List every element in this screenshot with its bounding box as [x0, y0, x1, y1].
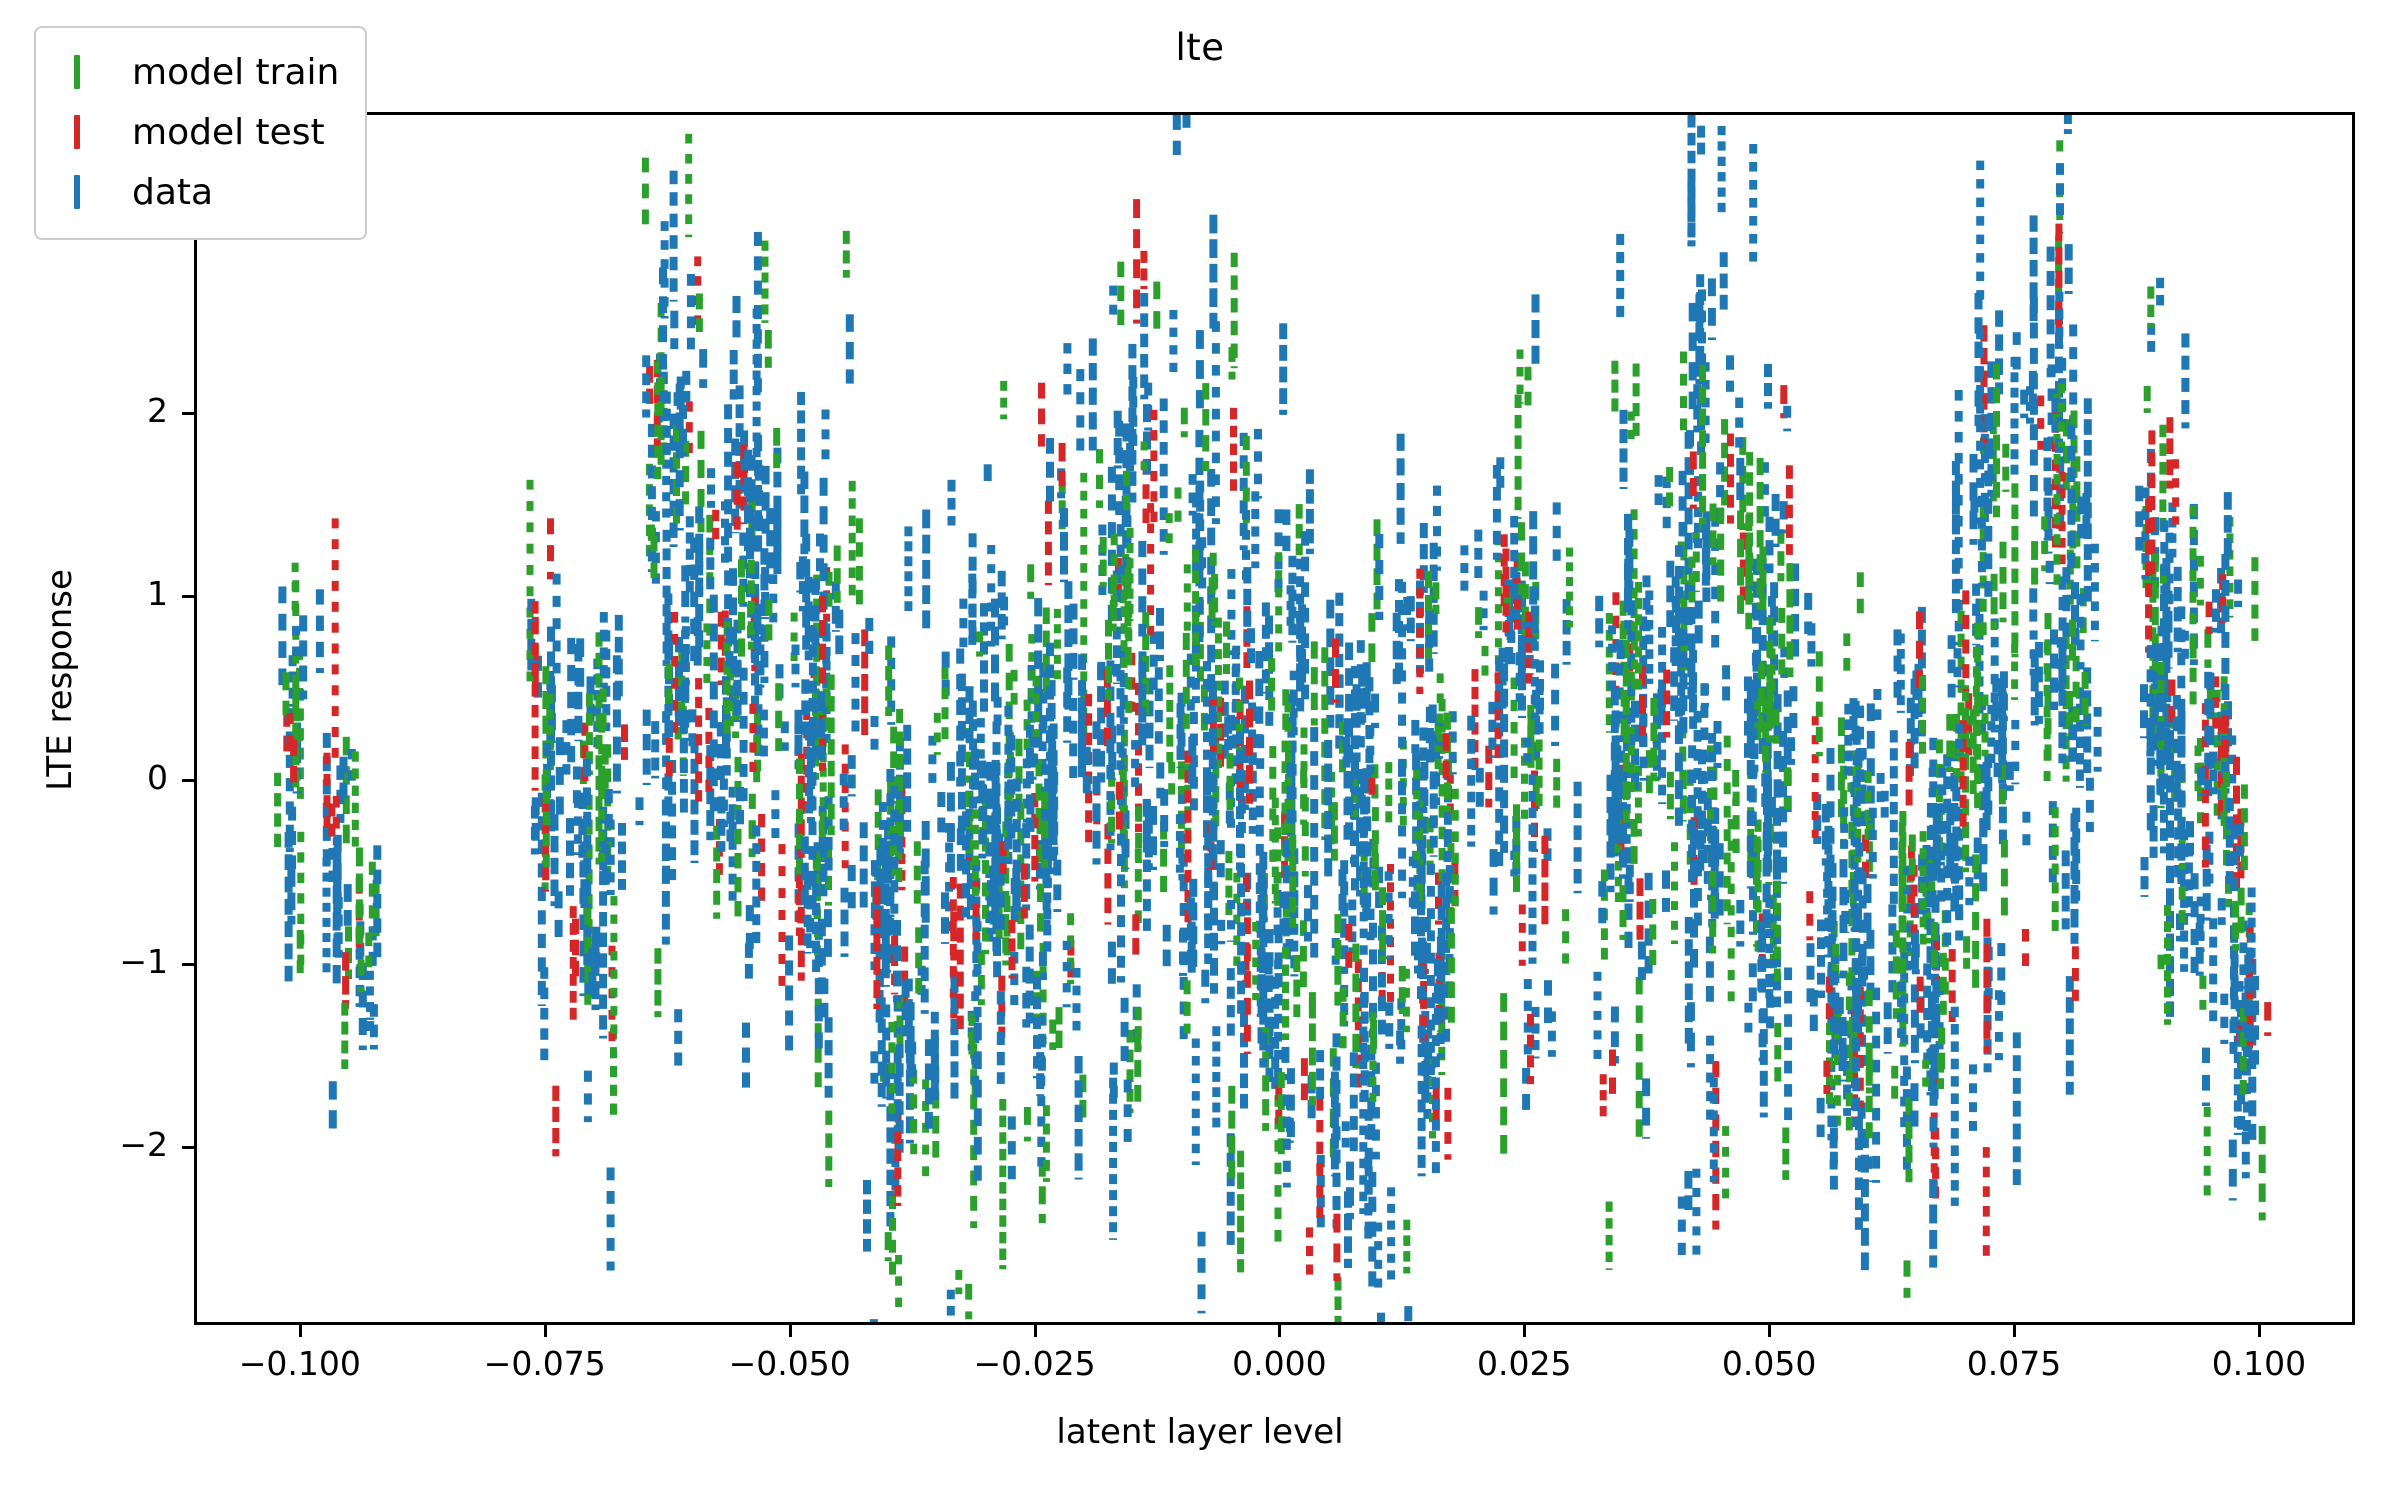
plot-axes: [194, 112, 2355, 1325]
x-tick-label: 0.050: [1659, 1344, 1879, 1383]
y-tick-label: 2: [0, 391, 168, 430]
legend-label-data: data: [132, 172, 213, 213]
y-tick-label: −2: [0, 1125, 168, 1164]
x-tick: [1278, 1325, 1281, 1337]
y-tick-label: −1: [0, 942, 168, 981]
x-tick-label: −0.050: [680, 1344, 900, 1383]
y-tick: [182, 412, 194, 415]
x-tick: [1523, 1325, 1526, 1337]
legend-label-model-test: model test: [132, 112, 325, 153]
x-tick-label: −0.025: [925, 1344, 1145, 1383]
y-tick: [182, 1146, 194, 1149]
x-tick-label: −0.075: [435, 1344, 655, 1383]
y-tick: [182, 963, 194, 966]
legend-swatch-data: [74, 175, 80, 209]
x-tick: [299, 1325, 302, 1337]
legend-swatch-model-test: [74, 115, 80, 149]
x-tick: [2013, 1325, 2016, 1337]
y-axis-label: LTE response: [40, 330, 80, 1030]
plot-area: [197, 115, 2352, 1322]
y-tick-label: 1: [0, 574, 168, 613]
chart-legend[interactable]: model train model test data: [34, 26, 367, 240]
x-tick: [1768, 1325, 1771, 1337]
data-marks-layer: [197, 115, 2352, 1322]
x-tick: [2258, 1325, 2261, 1337]
x-axis-label: latent layer level: [0, 1412, 2400, 1452]
x-tick-label: 0.100: [2149, 1344, 2369, 1383]
y-tick: [182, 779, 194, 782]
y-tick-label: 0: [0, 758, 168, 797]
figure-canvas: lte −0.100−0.075−0.050−0.0250.0000.0250.…: [0, 0, 2400, 1500]
x-tick: [789, 1325, 792, 1337]
x-tick-label: 0.025: [1414, 1344, 1634, 1383]
x-tick-label: 0.075: [1904, 1344, 2124, 1383]
legend-item-model-test[interactable]: model test: [54, 102, 339, 162]
legend-item-data[interactable]: data: [54, 162, 339, 222]
x-tick: [1034, 1325, 1037, 1337]
x-tick: [544, 1325, 547, 1337]
x-tick-label: 0.000: [1169, 1344, 1389, 1383]
y-tick: [182, 595, 194, 598]
legend-item-model-train[interactable]: model train: [54, 42, 339, 102]
legend-label-model-train: model train: [132, 52, 339, 93]
legend-swatch-model-train: [74, 55, 80, 89]
x-tick-label: −0.100: [190, 1344, 410, 1383]
